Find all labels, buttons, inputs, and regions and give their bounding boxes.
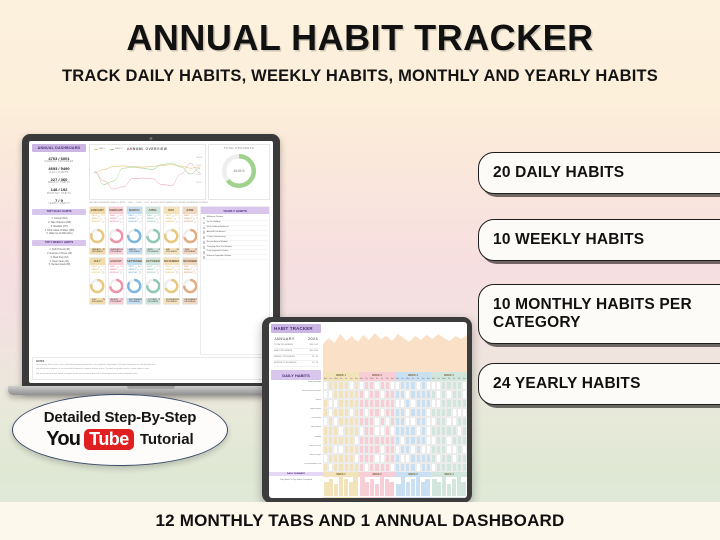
stat-label: YEARLY HABITS bbox=[32, 203, 86, 205]
checkbox-icon[interactable] bbox=[203, 241, 205, 243]
week-bar-group: WEEK 4 8796897 bbox=[431, 472, 467, 498]
habit-cell[interactable] bbox=[462, 399, 467, 408]
month-card[interactable]: AUGUST DAILY 73% WEEKLY 67% MONTHLY 62% … bbox=[108, 257, 125, 306]
month-row-2: JULY DAILY 79% WEEKLY 72% MONTHLY 66% JU… bbox=[89, 257, 198, 306]
chart-y-axis-labels: 100.0%75.0%50.0%25.0% bbox=[196, 157, 202, 184]
page-footer: 12 MONTHLY TABS AND 1 ANNUAL DASHBOARD bbox=[0, 502, 720, 540]
bar bbox=[396, 484, 401, 496]
month-footer: FEBRUARY PROGRESS 68.4% bbox=[109, 248, 124, 254]
metric-bar bbox=[191, 215, 193, 217]
habit-cell[interactable] bbox=[462, 381, 467, 390]
habit-label: Meditate bbox=[269, 436, 323, 445]
bar bbox=[425, 479, 430, 496]
month-name: MARCH bbox=[127, 207, 142, 214]
metric-bar bbox=[137, 269, 139, 271]
x-tick-label: AUGUST bbox=[151, 202, 160, 204]
month-footer-value: 77.3% bbox=[140, 249, 143, 253]
month-footer-value: 73.8% bbox=[121, 299, 124, 303]
stat-value: 227 / 360 bbox=[32, 177, 86, 182]
tracker-sidebar: HABIT TRACKER JANUARY 2024 TOTAL PROGRES… bbox=[269, 322, 323, 372]
metric-label: WEEKLY bbox=[110, 218, 118, 220]
month-footer-label: JANUARY PROGRESS bbox=[92, 249, 103, 253]
y-tick-label: 75.0% bbox=[196, 165, 202, 167]
chart-legend: DAILYWEEKLYMONTHLY bbox=[94, 148, 143, 150]
month-footer-value: 68.4% bbox=[121, 249, 124, 253]
metric-label: MONTHLY bbox=[166, 272, 175, 274]
month-footer-value: 71.5% bbox=[195, 249, 198, 253]
month-metric-row: DAILY 77% bbox=[129, 215, 141, 217]
bar bbox=[360, 477, 365, 496]
metric-label: DAILY bbox=[184, 215, 190, 217]
month-footer-label: SEPTEMBER PROGRESS bbox=[129, 299, 141, 303]
metric-label: MONTHLY bbox=[110, 221, 119, 223]
laptop-lid: ANNUAL DASHBOARD 4703 / 6001 OVERALL PRO… bbox=[22, 134, 280, 392]
metric-bar bbox=[120, 221, 122, 223]
tablet-mockup: HABIT TRACKER JANUARY 2024 TOTAL PROGRES… bbox=[262, 317, 472, 503]
page-header: ANNUAL HABIT TRACKER TRACK DAILY HABITS,… bbox=[0, 0, 720, 86]
month-metric-row: WEEKLY 60% bbox=[110, 218, 122, 220]
bar bbox=[389, 482, 394, 496]
metric-bar bbox=[100, 269, 102, 271]
habit-cell[interactable] bbox=[462, 408, 467, 417]
checkbox-icon[interactable] bbox=[203, 227, 205, 229]
month-name: JANUARY bbox=[90, 207, 105, 214]
habit-cell[interactable] bbox=[462, 463, 467, 472]
habit-row: No Screens After 9PM bbox=[269, 463, 467, 472]
month-metric-row: WEEKLY 66% bbox=[147, 218, 159, 220]
month-metric-row: MONTHLY 57% bbox=[166, 271, 178, 273]
bar bbox=[329, 479, 334, 496]
y-tick-label: 50.0% bbox=[196, 174, 202, 176]
month-footer-label: MARCH PROGRESS bbox=[129, 249, 140, 253]
month-metric-row: DAILY 68% bbox=[110, 215, 122, 217]
tracker-stat-value: 11 / 16 bbox=[312, 361, 318, 366]
checkbox-icon[interactable] bbox=[203, 217, 205, 219]
stat-label: MONTHLY HABITS bbox=[32, 193, 86, 195]
donut-chart bbox=[146, 276, 161, 296]
metric-bar bbox=[135, 215, 137, 217]
checkbox-icon[interactable] bbox=[203, 256, 205, 258]
habit-cell[interactable] bbox=[462, 436, 467, 445]
month-footer-value: 82.1% bbox=[103, 249, 106, 253]
tablet-screen: HABIT TRACKER JANUARY 2024 TOTAL PROGRES… bbox=[269, 322, 467, 498]
metric-bar bbox=[119, 218, 121, 220]
month-footer: NOVEMBER PROGRESS 69.2% bbox=[164, 298, 179, 304]
metric-label: WEEKLY bbox=[92, 269, 100, 271]
metric-percent: 82% bbox=[101, 215, 105, 217]
metric-percent: 78% bbox=[103, 218, 105, 220]
habit-row: Stretch 10 Mins bbox=[269, 445, 467, 454]
month-metric-row: DAILY 71% bbox=[184, 215, 196, 217]
month-footer-label: APRIL PROGRESS bbox=[148, 249, 159, 253]
week-bar-group: WEEK 1 7869879 bbox=[323, 472, 359, 498]
habit-label: No Screens After 9PM bbox=[269, 463, 323, 472]
bar bbox=[339, 477, 344, 496]
habit-row: Journal bbox=[269, 399, 467, 408]
month-metric-row: MONTHLY 75% bbox=[129, 271, 141, 273]
metric-percent: 58% bbox=[197, 221, 198, 223]
habit-cell[interactable] bbox=[462, 445, 467, 454]
week-bar-group: WEEK 3 6978978 bbox=[395, 472, 431, 498]
metric-bar bbox=[172, 266, 174, 268]
notes-section: NOTES Lorem ipsum dolor sit amet, mei cu… bbox=[32, 357, 270, 380]
month-donut bbox=[146, 275, 161, 298]
checkbox-icon[interactable] bbox=[203, 251, 205, 253]
laptop-base bbox=[8, 386, 294, 395]
tracker-stat-label: WEEKLY PROGRESS bbox=[274, 355, 295, 360]
tracker-stats: TOTAL PROGRESS 583 / 611 DAILY PROGRESS … bbox=[271, 343, 321, 367]
month-card[interactable]: NOVEMBER DAILY 69% WEEKLY 63% MONTHLY 57… bbox=[163, 257, 180, 306]
month-metric-row: DAILY 76% bbox=[147, 266, 159, 268]
bar bbox=[401, 477, 406, 496]
checkbox-icon[interactable] bbox=[203, 236, 205, 238]
top-weekly-list: 1. Call A Friend (48)2. Exercise 3 Times… bbox=[32, 247, 86, 268]
metric-percent: 57% bbox=[179, 272, 180, 274]
donut-chart bbox=[146, 226, 161, 246]
total-progress-donut: 63.81% bbox=[222, 154, 256, 189]
monthly-habit-tracker: HABIT TRACKER JANUARY 2024 TOTAL PROGRES… bbox=[269, 322, 467, 498]
month-footer: DECEMBER PROGRESS 75.0% bbox=[183, 298, 198, 304]
metric-percent: 75% bbox=[194, 266, 198, 268]
stat-item: 227 / 360 WEEKLY HABITS bbox=[32, 175, 86, 186]
metric-percent: 70% bbox=[179, 221, 180, 223]
month-row-1: JANUARY DAILY 82% WEEKLY 78% MONTHLY 65%… bbox=[89, 206, 198, 255]
month-footer-value: 76.6% bbox=[158, 299, 161, 303]
month-donut bbox=[90, 275, 105, 298]
annual-dashboard-spreadsheet: ANNUAL DASHBOARD 4703 / 6001 OVERALL PRO… bbox=[29, 141, 273, 383]
top-daily-heading: TOP 5 DAILY HABITS bbox=[32, 209, 86, 215]
metric-bar bbox=[176, 271, 178, 273]
month-metric-row: DAILY 74% bbox=[147, 215, 159, 217]
habit-label: Journal bbox=[269, 399, 323, 408]
metric-label: WEEKLY bbox=[184, 269, 192, 271]
metric-percent: 74% bbox=[177, 218, 179, 220]
metric-label: WEEKLY bbox=[166, 218, 174, 220]
month-name: APRIL bbox=[146, 207, 161, 214]
bar bbox=[416, 477, 421, 496]
month-metric-row: WEEKLY 70% bbox=[147, 269, 159, 271]
notes-line: Has moveat deniaue eos, dolore suscipiat… bbox=[36, 372, 266, 377]
habit-row: Vegan Brekkie bbox=[269, 408, 467, 417]
tracker-stat-value: 15 / 20 bbox=[312, 355, 318, 360]
month-name: SEPTEMBER bbox=[127, 258, 142, 265]
bar bbox=[406, 482, 411, 496]
donut-chart bbox=[164, 226, 179, 246]
month-card[interactable]: JULY DAILY 79% WEEKLY 72% MONTHLY 66% JU… bbox=[89, 257, 106, 306]
metric-bar bbox=[193, 218, 195, 220]
metric-percent: 60% bbox=[122, 218, 124, 220]
daily-summary-section: DAILY SUMMARY Daily Habit Per Day Habits… bbox=[269, 472, 467, 498]
metric-percent: 64% bbox=[160, 272, 161, 274]
footer-text: 12 MONTHLY TABS AND 1 ANNUAL DASHBOARD bbox=[155, 511, 564, 531]
tracker-area-chart bbox=[323, 322, 467, 372]
donut-chart bbox=[109, 226, 124, 246]
month-metric-row: MONTHLY 58% bbox=[184, 221, 196, 223]
month-footer: JULY PROGRESS 79.4% bbox=[90, 298, 105, 304]
habit-label: Drink 8 Glasses Of Water bbox=[269, 390, 323, 399]
habit-label: Stretch 10 Mins bbox=[269, 445, 323, 454]
stat-item: 148 / 192 MONTHLY HABITS bbox=[32, 185, 86, 196]
month-footer: MARCH PROGRESS 77.3% bbox=[127, 248, 142, 254]
metric-label: MONTHLY bbox=[147, 272, 156, 274]
month-donut bbox=[127, 275, 142, 298]
checkbox-icon[interactable] bbox=[203, 222, 205, 224]
month-metric-row: WEEKLY 69% bbox=[184, 269, 196, 271]
month-footer: MAY PROGRESS 80.2% bbox=[164, 248, 179, 254]
month-metric-row: DAILY 79% bbox=[92, 266, 104, 268]
donut-chart bbox=[183, 226, 198, 246]
habit-row: Drink 8 Glasses Of Water bbox=[269, 390, 467, 399]
metric-label: DAILY bbox=[147, 215, 153, 217]
month-footer-label: NOVEMBER PROGRESS bbox=[166, 299, 177, 303]
month-metric-row: WEEKLY 78% bbox=[92, 218, 104, 220]
habit-label: Vegan Brekkie bbox=[269, 408, 323, 417]
month-metric-row: MONTHLY 70% bbox=[166, 221, 178, 223]
metric-percent: 74% bbox=[157, 215, 161, 217]
month-donut bbox=[183, 225, 198, 248]
donut-chart bbox=[164, 276, 179, 296]
metric-percent: 76% bbox=[157, 266, 161, 268]
tracker-month: JANUARY bbox=[274, 336, 295, 341]
page-title: ANNUAL HABIT TRACKER bbox=[0, 20, 720, 56]
month-donut bbox=[146, 225, 161, 248]
habit-row: Meditate bbox=[269, 436, 467, 445]
dashboard-heading: ANNUAL DASHBOARD bbox=[32, 144, 86, 152]
habit-row: Read 20 Pages bbox=[269, 454, 467, 463]
month-donut bbox=[109, 225, 124, 248]
month-footer-label: OCTOBER PROGRESS bbox=[148, 299, 159, 303]
month-metric-row: WEEKLY 67% bbox=[110, 269, 122, 271]
month-metric-row: MONTHLY 65% bbox=[92, 221, 104, 223]
youtube-logo-tube: Tube bbox=[84, 429, 134, 450]
metric-percent: 63% bbox=[177, 269, 179, 271]
notes-body: Lorem ipsum dolor sit amet, mei cu ridic… bbox=[36, 363, 266, 377]
stat-item: 4693 / 5490 DAILY HABITS bbox=[32, 164, 86, 175]
page-subtitle: TRACK DAILY HABITS, WEEKLY HABITS, MONTH… bbox=[0, 66, 720, 86]
stat-value: 148 / 192 bbox=[32, 187, 86, 192]
metric-bar bbox=[139, 221, 141, 223]
month-card[interactable]: APRIL DAILY 74% WEEKLY 66% MONTHLY 61% A… bbox=[145, 206, 162, 255]
metric-label: WEEKLY bbox=[129, 269, 137, 271]
month-footer-label: JUNE PROGRESS bbox=[185, 249, 196, 253]
line-chart-svg bbox=[93, 154, 202, 194]
metric-bar bbox=[156, 269, 158, 271]
yearly-habit-item[interactable]: Harvest Vegetable Garden bbox=[203, 255, 267, 260]
stat-item: 7 / 9 YEARLY HABITS bbox=[32, 196, 86, 207]
stat-value: 7 / 9 bbox=[32, 198, 86, 203]
month-card[interactable]: SEPTEMBER DAILY 85% WEEKLY 80% MONTHLY 7… bbox=[126, 257, 143, 306]
metric-percent: 69% bbox=[142, 221, 143, 223]
weekly-bar-charts: WEEK 1 7869879 WEEK 2 9786987 WEEK 3 697… bbox=[323, 472, 467, 498]
youtube-tutorial-badge[interactable]: Detailed Step-By-Step You Tube Tutorial bbox=[12, 394, 228, 466]
metric-label: WEEKLY bbox=[147, 269, 155, 271]
metric-percent: 62% bbox=[123, 272, 124, 274]
month-footer-label: MAY PROGRESS bbox=[166, 249, 177, 253]
month-metric-row: DAILY 73% bbox=[110, 266, 122, 268]
bar bbox=[432, 479, 437, 496]
month-metric-row: MONTHLY 64% bbox=[147, 271, 159, 273]
metric-bar bbox=[139, 271, 141, 273]
x-tick-label: MARCH bbox=[111, 202, 119, 204]
x-tick-label: JUNE bbox=[135, 202, 143, 204]
metric-bar bbox=[137, 218, 139, 220]
metric-percent: 69% bbox=[196, 269, 198, 271]
dashboard-sidebar: ANNUAL DASHBOARD 4703 / 6001 OVERALL PRO… bbox=[32, 144, 86, 355]
metric-label: WEEKLY bbox=[110, 269, 118, 271]
metric-label: WEEKLY bbox=[166, 269, 174, 271]
x-tick-label: SEPTEMBER bbox=[160, 202, 173, 204]
month-metric-row: MONTHLY 69% bbox=[129, 221, 141, 223]
legend-item: DAILY bbox=[94, 148, 105, 150]
metric-label: WEEKLY bbox=[147, 218, 155, 220]
habit-cell[interactable] bbox=[462, 426, 467, 435]
metric-label: DAILY bbox=[129, 266, 135, 268]
bar bbox=[353, 477, 358, 496]
metric-bar bbox=[176, 221, 178, 223]
month-metric-row: DAILY 82% bbox=[92, 215, 104, 217]
annual-overview-chart: ANNUAL OVERVIEW DAILYWEEKLYMONTHLY 100.0… bbox=[89, 144, 206, 200]
checkbox-icon[interactable] bbox=[203, 231, 205, 233]
metric-percent: 75% bbox=[142, 272, 143, 274]
metric-label: DAILY bbox=[110, 215, 116, 217]
callout-weekly-habits: 10 WEEKLY HABITS bbox=[478, 219, 720, 261]
donut-chart bbox=[127, 226, 142, 246]
tracker-year: 2024 bbox=[308, 336, 318, 341]
month-card[interactable]: OCTOBER DAILY 76% WEEKLY 70% MONTHLY 64%… bbox=[145, 257, 162, 306]
metric-bar bbox=[174, 218, 176, 220]
metric-label: WEEKLY bbox=[129, 218, 137, 220]
month-donut bbox=[109, 275, 124, 298]
bar bbox=[447, 484, 452, 496]
month-metric-row: MONTHLY 63% bbox=[184, 271, 196, 273]
metric-bar bbox=[157, 271, 159, 273]
metric-percent: 77% bbox=[138, 215, 142, 217]
month-footer-label: DECEMBER PROGRESS bbox=[185, 299, 196, 303]
metric-label: DAILY bbox=[92, 266, 98, 268]
summary-sidebar: DAILY SUMMARY Daily Habit Per Day Habits… bbox=[269, 472, 323, 498]
month-card[interactable]: MAY DAILY 80% WEEKLY 74% MONTHLY 70% MAY… bbox=[163, 206, 180, 255]
tracker-stat-value: 583 / 611 bbox=[309, 343, 318, 348]
metric-percent: 73% bbox=[120, 266, 124, 268]
month-metric-row: MONTHLY 55% bbox=[110, 221, 122, 223]
month-donut bbox=[164, 225, 179, 248]
habit-label: Read 20 Pages bbox=[269, 454, 323, 463]
metric-bar bbox=[191, 266, 193, 268]
yearly-habits-list: Milestone ReviewGo On HolidayHost Outdoo… bbox=[201, 214, 269, 262]
metric-percent: 71% bbox=[140, 218, 142, 220]
youtube-logo-you: You bbox=[46, 428, 80, 451]
metric-label: MONTHLY bbox=[129, 272, 138, 274]
bar bbox=[437, 482, 442, 496]
callout-monthly-habits: 10 MONTHLY HABITS PER CATEGORY bbox=[478, 284, 720, 344]
metric-label: WEEKLY bbox=[92, 218, 100, 220]
month-card[interactable]: JUNE DAILY 71% WEEKLY 64% MONTHLY 58% JU… bbox=[182, 206, 199, 255]
bar bbox=[380, 477, 385, 496]
bar bbox=[411, 479, 416, 496]
metric-label: MONTHLY bbox=[92, 272, 101, 274]
total-progress-card: TOTAL PROGRESS 63.81% bbox=[208, 144, 270, 200]
month-name: NOVEMBER bbox=[164, 258, 179, 265]
metric-bar bbox=[154, 215, 156, 217]
x-tick-label: FEBRUARY bbox=[99, 202, 111, 204]
summary-text: Daily Habit Per Day Habits Completed bbox=[269, 476, 323, 482]
month-card[interactable]: DECEMBER DAILY 75% WEEKLY 69% MONTHLY 63… bbox=[182, 257, 199, 306]
month-name: FEBRUARY bbox=[109, 207, 124, 214]
month-footer-value: 69.2% bbox=[177, 299, 180, 303]
month-footer-label: FEBRUARY PROGRESS bbox=[111, 249, 122, 253]
month-name: AUGUST bbox=[109, 258, 124, 265]
metric-percent: 67% bbox=[122, 269, 124, 271]
x-tick-label: JANUARY bbox=[89, 202, 99, 204]
month-donut bbox=[183, 275, 198, 298]
month-metric-row: MONTHLY 61% bbox=[147, 221, 159, 223]
metric-percent: 66% bbox=[105, 272, 106, 274]
bar bbox=[370, 479, 375, 496]
month-metric-row: DAILY 69% bbox=[166, 266, 178, 268]
habit-label: Wake Up At 6AM bbox=[269, 381, 323, 390]
metric-label: MONTHLY bbox=[110, 272, 119, 274]
checkbox-icon[interactable] bbox=[203, 246, 205, 248]
month-card[interactable]: JANUARY DAILY 82% WEEKLY 78% MONTHLY 65%… bbox=[89, 206, 106, 255]
month-name: OCTOBER bbox=[146, 258, 161, 265]
month-footer-value: 80.2% bbox=[177, 249, 180, 253]
month-metric-row: MONTHLY 62% bbox=[110, 271, 122, 273]
month-metric-row: MONTHLY 66% bbox=[92, 271, 104, 273]
yearly-habits-panel: YEARLY HABITS Milestone ReviewGo On Holi… bbox=[200, 206, 270, 355]
metric-percent: 72% bbox=[103, 269, 105, 271]
list-item: 5. Review Goals (39) bbox=[35, 264, 84, 268]
month-card[interactable]: MARCH DAILY 77% WEEKLY 71% MONTHLY 69% M… bbox=[126, 206, 143, 255]
metric-percent: 63% bbox=[197, 272, 198, 274]
habit-cell[interactable] bbox=[462, 454, 467, 463]
bar bbox=[385, 479, 390, 496]
stat-value: 4703 / 6001 bbox=[32, 156, 86, 161]
month-footer-label: AUGUST PROGRESS bbox=[111, 299, 122, 303]
metric-bar bbox=[194, 221, 196, 223]
month-name: JULY bbox=[90, 258, 105, 265]
metric-label: DAILY bbox=[129, 215, 135, 217]
month-name: DECEMBER bbox=[183, 258, 198, 265]
metric-label: MONTHLY bbox=[184, 221, 193, 223]
laptop-mockup: ANNUAL DASHBOARD 4703 / 6001 OVERALL PRO… bbox=[22, 134, 280, 392]
month-metric-row: WEEKLY 64% bbox=[184, 218, 196, 220]
tracker-month-row: JANUARY 2024 bbox=[271, 334, 321, 342]
metric-percent: 68% bbox=[120, 215, 124, 217]
bar-value: 7 bbox=[462, 497, 467, 498]
month-card[interactable]: FEBRUARY DAILY 68% WEEKLY 60% MONTHLY 55… bbox=[108, 206, 125, 255]
habit-grid: Wake Up At 6AM Drink 8 Glasses Of Water … bbox=[269, 381, 467, 472]
month-metric-row: WEEKLY 63% bbox=[166, 269, 178, 271]
badge-tutorial-label: Tutorial bbox=[140, 431, 194, 448]
metric-percent: 80% bbox=[140, 269, 142, 271]
metric-bar bbox=[154, 266, 156, 268]
badge-line-1: Detailed Step-By-Step bbox=[44, 409, 197, 426]
tracker-stat-label: TOTAL PROGRESS bbox=[274, 343, 293, 348]
x-tick-label: MAY bbox=[127, 202, 135, 204]
stat-value: 4693 / 5490 bbox=[32, 166, 86, 171]
dashboard-main: ANNUAL OVERVIEW DAILYWEEKLYMONTHLY 100.0… bbox=[89, 144, 270, 355]
bar bbox=[344, 479, 349, 496]
habit-cell[interactable] bbox=[462, 417, 467, 426]
habit-cell[interactable] bbox=[462, 390, 467, 399]
x-tick-label: OCTOBER bbox=[173, 202, 184, 204]
tracker-stat-value: 390 / 620 bbox=[309, 349, 318, 354]
metric-label: DAILY bbox=[166, 215, 172, 217]
metric-bar bbox=[98, 266, 100, 268]
donut-chart bbox=[183, 276, 198, 296]
tracker-stat-label: MONTHLY PROGRESS bbox=[274, 361, 296, 366]
y-tick-label: 25.0% bbox=[196, 182, 202, 184]
